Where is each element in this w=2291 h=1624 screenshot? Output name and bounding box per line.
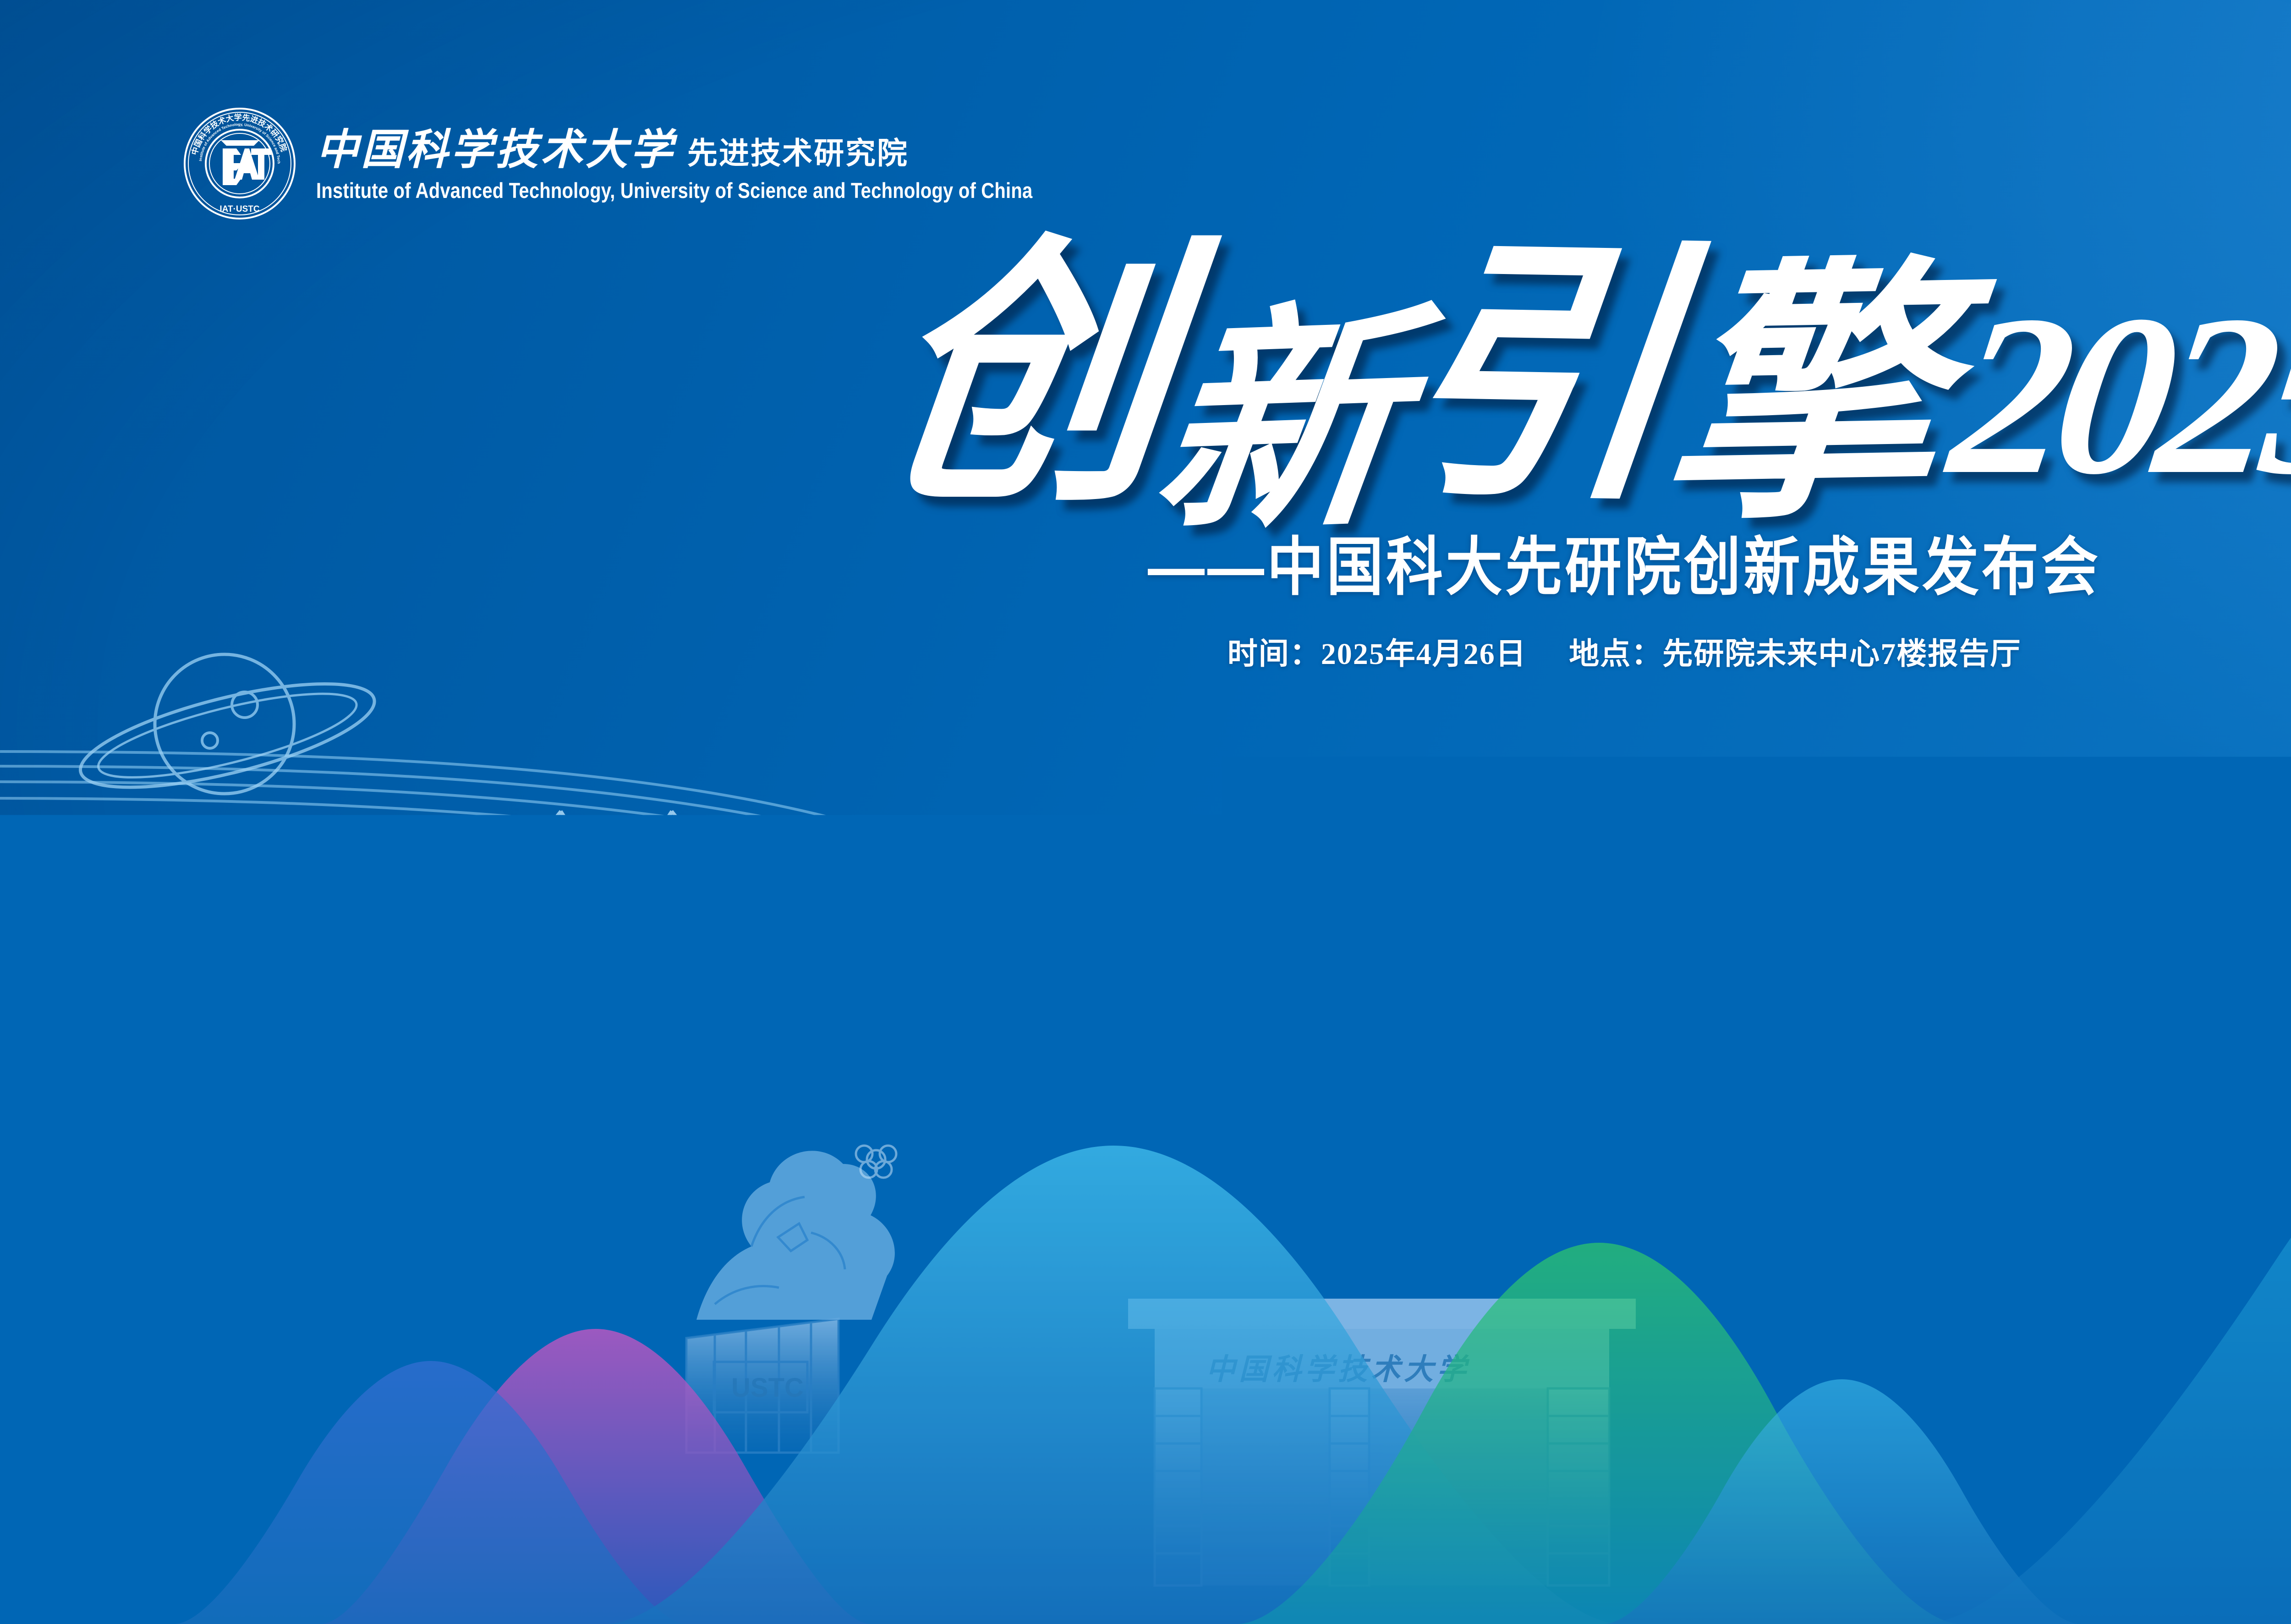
title-char-4: 擎 bbox=[1655, 278, 1952, 519]
title-year: 2025 bbox=[1943, 301, 2291, 489]
org-unit-cn: 先进技术研究院 bbox=[687, 139, 909, 171]
title-char-2: 新 bbox=[1146, 318, 1408, 532]
org-name-en: Institute of Advanced Technology, Univer… bbox=[316, 180, 1032, 202]
emblem-bottom-text: IAT·USTC bbox=[219, 204, 260, 214]
title-brush-line: 创 新 引 擎 2025 bbox=[883, 257, 2291, 501]
title-subtitle: ——中国科大先研院创新成果发布会 bbox=[1148, 515, 2101, 608]
event-meta-line: 时间：2025年4月26日 地点：先研院未来中心7楼报告厅 bbox=[1228, 629, 2022, 673]
title-char-1: 创 bbox=[871, 257, 1177, 501]
poster-canvas: USTC bbox=[0, 0, 2291, 1624]
institute-header: IAT·USTC 中国科学技术大学先进技术研究院 Institute of Ad… bbox=[182, 106, 1032, 221]
org-name-cn: 中国科学技术大学 bbox=[316, 129, 675, 171]
iat-ustc-emblem: IAT·USTC 中国科学技术大学先进技术研究院 Institute of Ad… bbox=[182, 106, 297, 221]
title-char-3: 引 bbox=[1387, 258, 1682, 499]
title-block: 创 新 引 擎 2025 ——中国科大先研院创新成果发布会 时间：2025年4月… bbox=[0, 257, 2291, 673]
org-name-block: 中国科学技术大学 先进技术研究院 Institute of Advanced T… bbox=[316, 129, 1032, 198]
